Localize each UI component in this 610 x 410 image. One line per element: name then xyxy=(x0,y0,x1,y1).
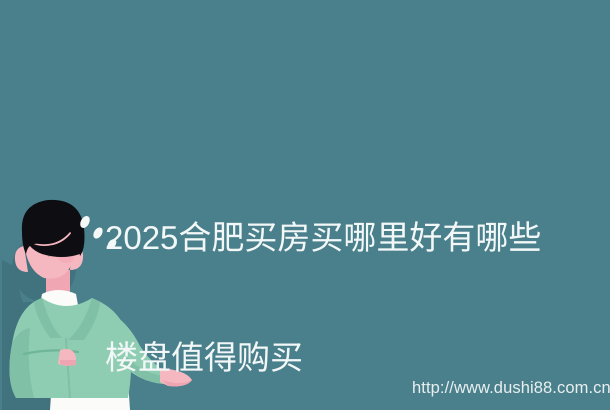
hand-in-pocket-shade xyxy=(60,360,76,366)
thought-dot-2 xyxy=(91,226,104,240)
watermark-url: http://www.dushi88.com.cn xyxy=(412,378,610,398)
page-title-line-2: 楼盘值得购买 xyxy=(105,338,557,378)
page-title: 2025合肥买房买哪里好有哪些 楼盘值得购买 xyxy=(105,138,557,410)
cover-image-canvas: 2025合肥买房买哪里好有哪些 楼盘值得购买 http://www.dushi8… xyxy=(0,0,610,410)
page-title-line-1: 2025合肥买房买哪里好有哪些 xyxy=(105,218,557,258)
